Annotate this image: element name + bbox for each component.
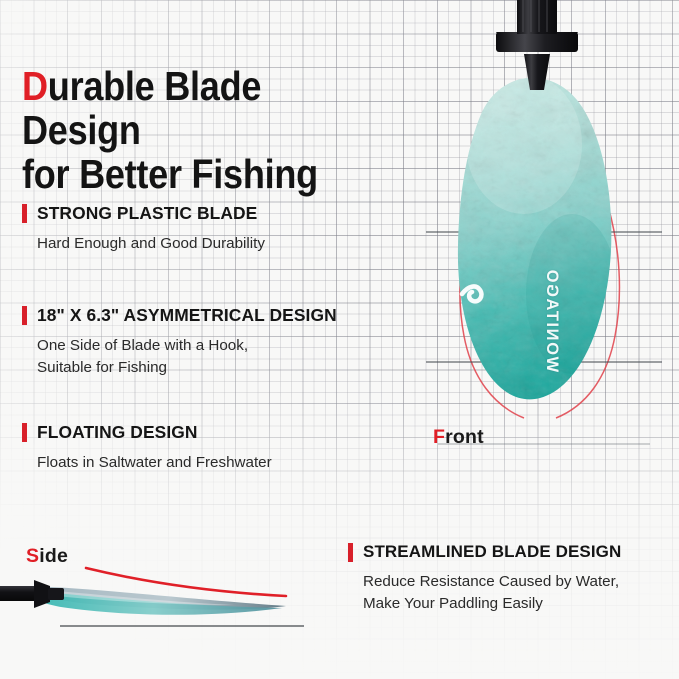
feature-title: FLOATING DESIGN bbox=[37, 422, 198, 443]
feature-heading-row: FLOATING DESIGN bbox=[22, 422, 414, 443]
shaft-collar-flare bbox=[496, 32, 578, 50]
feature-heading-row: STRONG PLASTIC BLADE bbox=[22, 203, 414, 224]
product-infographic: WONITAGO bbox=[0, 0, 679, 679]
label-front-view: Front bbox=[433, 426, 484, 449]
feature-heading-row: STREAMLINED BLADE DESIGN bbox=[348, 542, 678, 562]
feature-item-streamlined-blade-design: STREAMLINED BLADE DESIGN Reduce Resistan… bbox=[348, 542, 678, 615]
label-side-view: Side bbox=[26, 545, 68, 568]
feature-title: STREAMLINED BLADE DESIGN bbox=[363, 542, 621, 562]
label-side-rest: ide bbox=[39, 545, 68, 567]
bullet-bar-icon bbox=[22, 306, 27, 325]
feature-title: STRONG PLASTIC BLADE bbox=[37, 203, 257, 224]
page-title-initial: D bbox=[22, 63, 48, 109]
feature-item-strong-plastic-blade: STRONG PLASTIC BLADE Hard Enough and Goo… bbox=[22, 203, 414, 255]
bullet-bar-icon bbox=[22, 423, 27, 442]
feature-item-floating-design: FLOATING DESIGN Floats in Saltwater and … bbox=[22, 422, 414, 474]
bullet-bar-icon bbox=[348, 543, 353, 562]
label-front-rest: ront bbox=[445, 426, 484, 448]
side-shaft-neck bbox=[48, 588, 64, 600]
feature-title: 18" X 6.3" ASYMMETRICAL DESIGN bbox=[37, 305, 337, 326]
feature-heading-row: 18" X 6.3" ASYMMETRICAL DESIGN bbox=[22, 305, 414, 326]
paddle-front-view bbox=[404, 0, 679, 464]
label-front-initial: F bbox=[433, 426, 445, 448]
label-side-initial: S bbox=[26, 545, 39, 567]
page-title-rest: urable Blade Design for Better Fishing bbox=[22, 63, 318, 197]
blade-body bbox=[444, 64, 634, 409]
feature-item-asymmetrical-design: 18" X 6.3" ASYMMETRICAL DESIGN One Side … bbox=[22, 305, 414, 379]
page-title: Durable Blade Design for Better Fishing bbox=[22, 65, 374, 197]
feature-description: One Side of Blade with a Hook, Suitable … bbox=[37, 335, 414, 379]
paddle-side-view bbox=[0, 560, 339, 640]
feature-description: Hard Enough and Good Durability bbox=[37, 233, 414, 255]
feature-description: Reduce Resistance Caused by Water, Make … bbox=[363, 571, 678, 615]
bullet-bar-icon bbox=[22, 204, 27, 223]
feature-description: Floats in Saltwater and Freshwater bbox=[37, 452, 414, 474]
